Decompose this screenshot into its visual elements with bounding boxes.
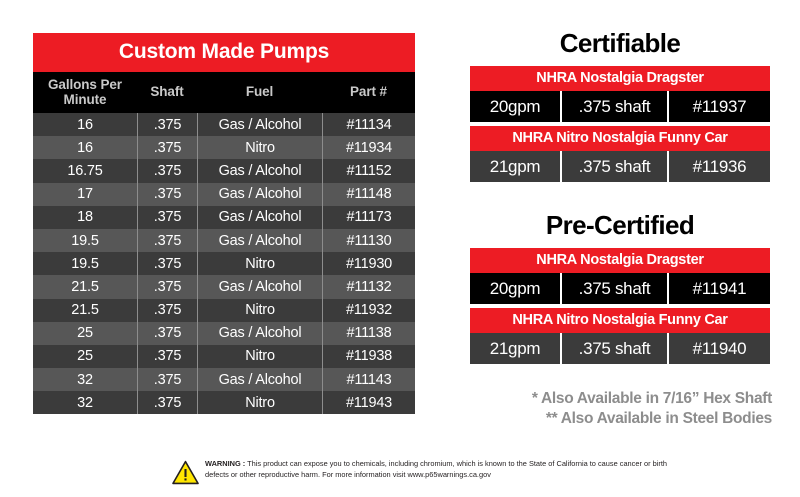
table-row: 21.5.375Gas / Alcohol#11132 — [33, 275, 415, 298]
cell-part: #11148 — [322, 183, 415, 206]
cell-gpm: 19.5 — [33, 252, 137, 275]
prop65-warning: WARNING : This product can expose you to… — [172, 459, 675, 485]
certifiable-dragster-row: 20gpm .375 shaft #11937 — [470, 91, 770, 122]
cell-fuel: Gas / Alcohol — [197, 159, 322, 182]
cell-fuel: Gas / Alcohol — [197, 322, 322, 345]
warning-label: WARNING : — [205, 459, 245, 468]
cell-fuel: Nitro — [197, 252, 322, 275]
certifiable-funny-car-shaft: .375 shaft — [560, 151, 667, 182]
table-row: 17.375Gas / Alcohol#11148 — [33, 183, 415, 206]
cell-shaft: .375 — [137, 136, 197, 159]
cell-fuel: Nitro — [197, 136, 322, 159]
warning-body: This product can expose you to chemicals… — [205, 459, 667, 479]
cell-part: #11134 — [322, 113, 415, 136]
cell-part: #11130 — [322, 229, 415, 252]
cell-gpm: 32 — [33, 391, 137, 414]
certifiable-heading: Certifiable — [470, 28, 770, 59]
cell-shaft: .375 — [137, 252, 197, 275]
pre-certified-funny-car-part: #11940 — [667, 333, 770, 364]
cell-part: #11138 — [322, 322, 415, 345]
certifiable-dragster-gpm: 20gpm — [470, 91, 560, 122]
certifiable-dragster-shaft: .375 shaft — [560, 91, 667, 122]
cell-gpm: 19.5 — [33, 229, 137, 252]
certifiable-funny-car-band: NHRA Nitro Nostalgia Funny Car — [470, 126, 770, 151]
main-table-title: Custom Made Pumps — [33, 33, 415, 72]
cell-part: #11152 — [322, 159, 415, 182]
pre-certified-block-dragster: NHRA Nostalgia Dragster 20gpm .375 shaft… — [470, 248, 770, 304]
cell-gpm: 25 — [33, 322, 137, 345]
cell-gpm: 32 — [33, 368, 137, 391]
pre-certified-section: Pre-Certified NHRA Nostalgia Dragster 20… — [470, 210, 770, 364]
warning-triangle-icon — [172, 460, 199, 485]
warning-text: WARNING : This product can expose you to… — [205, 459, 675, 480]
cell-gpm: 16.75 — [33, 159, 137, 182]
table-row: 16.375Nitro#11934 — [33, 136, 415, 159]
pre-certified-dragster-gpm: 20gpm — [470, 273, 560, 304]
column-header-part-number: Part # — [322, 72, 415, 113]
table-row: 19.5.375Gas / Alcohol#11130 — [33, 229, 415, 252]
certifiable-dragster-band: NHRA Nostalgia Dragster — [470, 66, 770, 91]
cell-shaft: .375 — [137, 391, 197, 414]
certifiable-funny-car-row: 21gpm .375 shaft #11936 — [470, 151, 770, 182]
footnotes: * Also Available in 7/16” Hex Shaft ** A… — [462, 389, 772, 430]
cell-shaft: .375 — [137, 159, 197, 182]
pre-certified-dragster-band: NHRA Nostalgia Dragster — [470, 248, 770, 273]
table-row: 18.375Gas / Alcohol#11173 — [33, 206, 415, 229]
cell-fuel: Gas / Alcohol — [197, 368, 322, 391]
certifiable-dragster-part: #11937 — [667, 91, 770, 122]
cell-shaft: .375 — [137, 275, 197, 298]
certifiable-block-dragster: NHRA Nostalgia Dragster 20gpm .375 shaft… — [470, 66, 770, 122]
cell-fuel: Nitro — [197, 345, 322, 368]
pre-certified-dragster-row: 20gpm .375 shaft #11941 — [470, 273, 770, 304]
cell-part: #11132 — [322, 275, 415, 298]
pre-certified-dragster-shaft: .375 shaft — [560, 273, 667, 304]
pre-certified-heading: Pre-Certified — [470, 210, 770, 241]
table-row: 32.375Nitro#11943 — [33, 391, 415, 414]
table-row: 16.375Gas / Alcohol#11134 — [33, 113, 415, 136]
cell-fuel: Gas / Alcohol — [197, 113, 322, 136]
cell-shaft: .375 — [137, 322, 197, 345]
cell-part: #11143 — [322, 368, 415, 391]
cell-shaft: .375 — [137, 299, 197, 322]
main-table-header-row: Gallons Per Minute Shaft Fuel Part # — [33, 72, 415, 113]
pre-certified-funny-car-gpm: 21gpm — [470, 333, 560, 364]
table-row: 21.5.375Nitro#11932 — [33, 299, 415, 322]
pre-certified-block-funny-car: NHRA Nitro Nostalgia Funny Car 21gpm .37… — [470, 308, 770, 364]
certifiable-funny-car-gpm: 21gpm — [470, 151, 560, 182]
footnote-steel-bodies: ** Also Available in Steel Bodies — [462, 409, 772, 429]
pre-certified-funny-car-band: NHRA Nitro Nostalgia Funny Car — [470, 308, 770, 333]
cell-fuel: Gas / Alcohol — [197, 229, 322, 252]
custom-made-pumps-table: Custom Made Pumps Gallons Per Minute Sha… — [33, 33, 415, 414]
cell-part: #11943 — [322, 391, 415, 414]
cell-shaft: .375 — [137, 345, 197, 368]
pre-certified-funny-car-row: 21gpm .375 shaft #11940 — [470, 333, 770, 364]
cell-shaft: .375 — [137, 183, 197, 206]
cell-shaft: .375 — [137, 113, 197, 136]
cell-shaft: .375 — [137, 368, 197, 391]
cell-part: #11932 — [322, 299, 415, 322]
cell-fuel: Gas / Alcohol — [197, 183, 322, 206]
cell-shaft: .375 — [137, 206, 197, 229]
cell-part: #11938 — [322, 345, 415, 368]
certifiable-section: Certifiable NHRA Nostalgia Dragster 20gp… — [470, 28, 770, 182]
cell-part: #11930 — [322, 252, 415, 275]
cell-gpm: 18 — [33, 206, 137, 229]
certifiable-funny-car-part: #11936 — [667, 151, 770, 182]
table-row: 19.5.375Nitro#11930 — [33, 252, 415, 275]
cell-gpm: 21.5 — [33, 299, 137, 322]
table-row: 25.375Gas / Alcohol#11138 — [33, 322, 415, 345]
table-row: 32.375Gas / Alcohol#11143 — [33, 368, 415, 391]
cell-fuel: Nitro — [197, 391, 322, 414]
product-spec-sheet: Custom Made Pumps Gallons Per Minute Sha… — [0, 0, 800, 497]
pre-certified-funny-car-shaft: .375 shaft — [560, 333, 667, 364]
table-row: 25.375Nitro#11938 — [33, 345, 415, 368]
cell-gpm: 21.5 — [33, 275, 137, 298]
table-row: 16.75.375Gas / Alcohol#11152 — [33, 159, 415, 182]
cell-part: #11173 — [322, 206, 415, 229]
cell-fuel: Gas / Alcohol — [197, 275, 322, 298]
main-table-body: 16.375Gas / Alcohol#1113416.375Nitro#119… — [33, 113, 415, 414]
cell-gpm: 16 — [33, 136, 137, 159]
certifiable-block-funny-car: NHRA Nitro Nostalgia Funny Car 21gpm .37… — [470, 126, 770, 182]
pre-certified-dragster-part: #11941 — [667, 273, 770, 304]
cell-gpm: 25 — [33, 345, 137, 368]
column-header-gallons-per-minute: Gallons Per Minute — [33, 72, 137, 113]
cell-shaft: .375 — [137, 229, 197, 252]
cell-gpm: 17 — [33, 183, 137, 206]
cell-fuel: Nitro — [197, 299, 322, 322]
footnote-hex-shaft: * Also Available in 7/16” Hex Shaft — [462, 389, 772, 409]
cell-part: #11934 — [322, 136, 415, 159]
column-header-fuel: Fuel — [197, 72, 322, 113]
cell-fuel: Gas / Alcohol — [197, 206, 322, 229]
cell-gpm: 16 — [33, 113, 137, 136]
column-header-shaft: Shaft — [137, 72, 197, 113]
